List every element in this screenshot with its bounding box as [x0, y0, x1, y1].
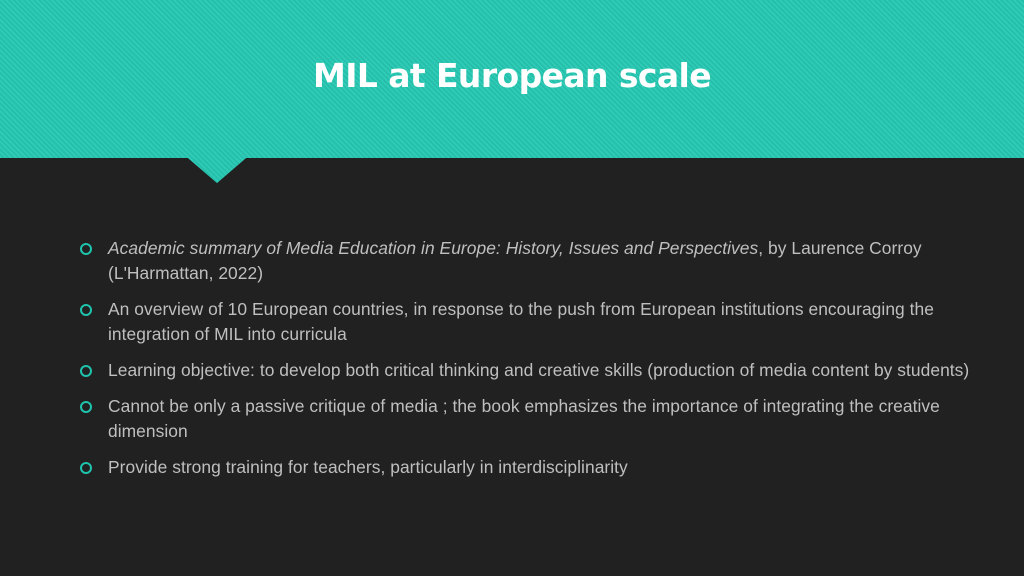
bullet-ring-icon — [80, 243, 92, 255]
list-item-text: Cannot be only a passive critique of med… — [108, 394, 974, 444]
page-title: MIL at European scale — [0, 53, 1024, 99]
slide-canvas: MIL at European scale Academic summary o… — [0, 0, 1024, 576]
list-item-text: Learning objective: to develop both crit… — [108, 358, 974, 383]
bullet-ring-icon — [80, 462, 92, 474]
list-item: An overview of 10 European countries, in… — [74, 297, 974, 347]
list-item: Provide strong training for teachers, pa… — [74, 455, 974, 480]
bullet-ring-icon — [80, 401, 92, 413]
list-item-text: An overview of 10 European countries, in… — [108, 297, 974, 347]
list-item-emphasis: Academic summary of Media Education in E… — [108, 238, 758, 258]
list-item: Academic summary of Media Education in E… — [74, 236, 974, 286]
list-item: Cannot be only a passive critique of med… — [74, 394, 974, 444]
bullet-ring-icon — [80, 304, 92, 316]
list-item: Learning objective: to develop both crit… — [74, 358, 974, 383]
bullet-list: Academic summary of Media Education in E… — [74, 236, 974, 480]
header-notch-triangle — [188, 158, 246, 183]
list-item-text: Provide strong training for teachers, pa… — [108, 455, 974, 480]
list-item-text: Academic summary of Media Education in E… — [108, 236, 974, 286]
bullet-ring-icon — [80, 365, 92, 377]
